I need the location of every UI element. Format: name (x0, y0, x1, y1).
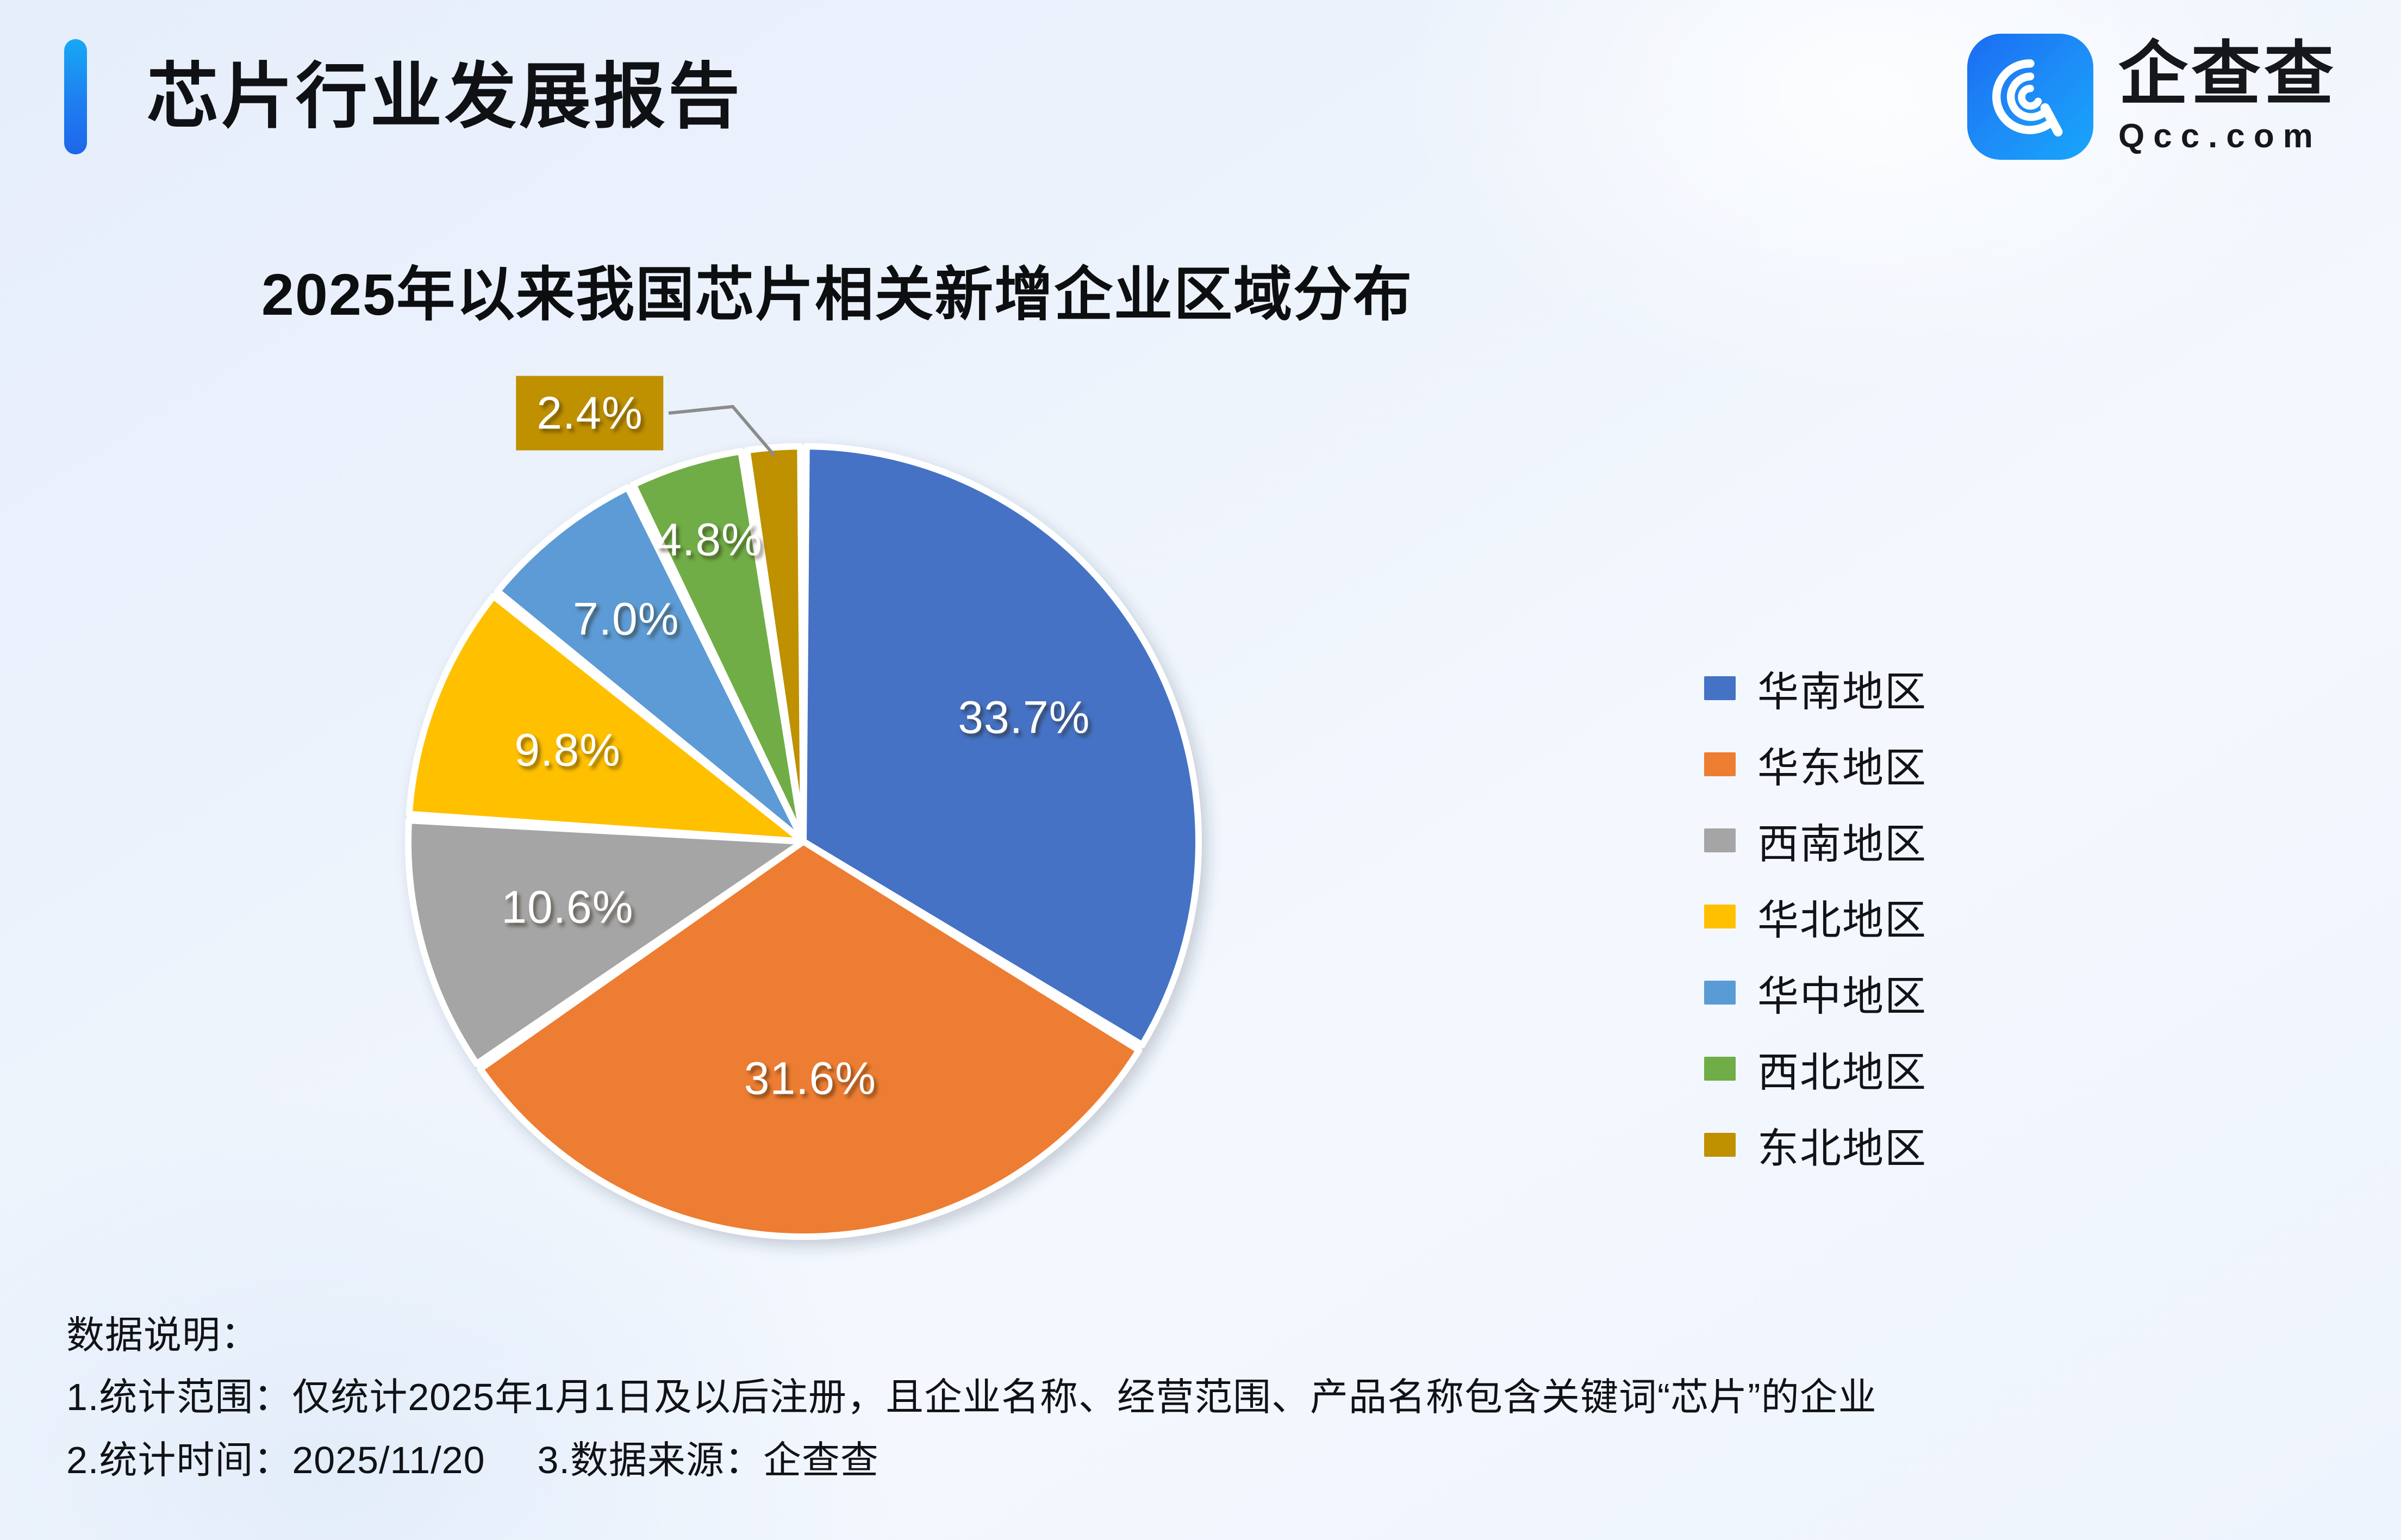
pie-slice[interactable] (633, 451, 803, 841)
legend-item-label: 西北地区 (1757, 1039, 1927, 1099)
notes-heading: 数据说明： (66, 1305, 2295, 1366)
pie-slice[interactable] (747, 446, 803, 841)
legend-item-label: 东北地区 (1757, 1115, 1927, 1175)
legend-item[interactable]: 西北地区 (1704, 1031, 1927, 1107)
pie-slice-group (408, 446, 1199, 1237)
note-time-source: 2.统计时间：2025/11/203.数据来源：企查查 (66, 1429, 2295, 1492)
legend-swatch-icon (1704, 828, 1736, 852)
pie-slice-label: 33.7% (958, 691, 1090, 744)
pie-slice-label: 31.6% (744, 1052, 876, 1105)
chart-legend: 华南地区华东地区西南地区华北地区华中地区西北地区东北地区 (1704, 650, 1927, 1183)
legend-swatch-icon (1704, 676, 1736, 700)
pie-slice[interactable] (497, 488, 803, 841)
callout-leader-line (669, 407, 774, 456)
logo-cn-text: 企查查 (2118, 36, 2337, 113)
legend-item[interactable]: 华北地区 (1704, 878, 1927, 955)
pie-slice-label: 7.0% (573, 593, 679, 645)
title-accent-bar (64, 39, 87, 154)
legend-item-label: 华北地区 (1757, 887, 1927, 946)
pie-slice[interactable] (803, 446, 1199, 1045)
qcc-logo-icon (1967, 34, 2093, 160)
legend-swatch-icon (1704, 1133, 1736, 1157)
page-title: 芯片行业发展报告 (147, 42, 743, 151)
logo-en-text: Qcc.com (2118, 115, 2322, 158)
legend-item-label: 华南地区 (1757, 658, 1927, 718)
legend-item-label: 华东地区 (1757, 734, 1927, 794)
legend-item[interactable]: 华南地区 (1704, 650, 1927, 726)
legend-item[interactable]: 东北地区 (1704, 1107, 1927, 1183)
note-source: 3.数据来源：企查查 (538, 1439, 879, 1481)
legend-item-label: 华中地区 (1757, 963, 1927, 1022)
pie-slice-label: 10.6% (501, 881, 633, 934)
legend-item-label: 西南地区 (1757, 810, 1927, 870)
legend-item[interactable]: 华中地区 (1704, 955, 1927, 1031)
pie-slice[interactable] (409, 596, 803, 841)
legend-swatch-icon (1704, 981, 1736, 1005)
note-scope: 1.统计范围：仅统计2025年1月1日及以后注册，且企业名称、经营范围、产品名称… (66, 1366, 2295, 1429)
pie-callout-label: 2.4% (516, 376, 663, 451)
pie-slice-label: 4.8% (656, 513, 762, 566)
page-header: 芯片行业发展报告 企查查 Qcc.com (0, 0, 2401, 190)
pie-slice[interactable] (480, 841, 1139, 1237)
legend-swatch-icon (1704, 905, 1736, 928)
legend-item[interactable]: 西南地区 (1704, 802, 1927, 878)
legend-item[interactable]: 华东地区 (1704, 726, 1927, 802)
data-notes: 数据说明： 1.统计范围：仅统计2025年1月1日及以后注册，且企业名称、经营范… (66, 1305, 2295, 1492)
pie-slice-label: 9.8% (514, 724, 620, 776)
chart-title: 2025年以来我国芯片相关新增企业区域分布 (0, 247, 1674, 332)
pie-slice[interactable] (408, 820, 803, 1064)
logo-wordmark: 企查查 Qcc.com (2118, 36, 2337, 157)
pie-leader-lines (669, 407, 774, 456)
brand-logo: 企查查 Qcc.com (1967, 34, 2337, 160)
legend-swatch-icon (1704, 1057, 1736, 1081)
legend-swatch-icon (1704, 752, 1736, 776)
note-time: 2.统计时间：2025/11/20 (66, 1439, 485, 1481)
